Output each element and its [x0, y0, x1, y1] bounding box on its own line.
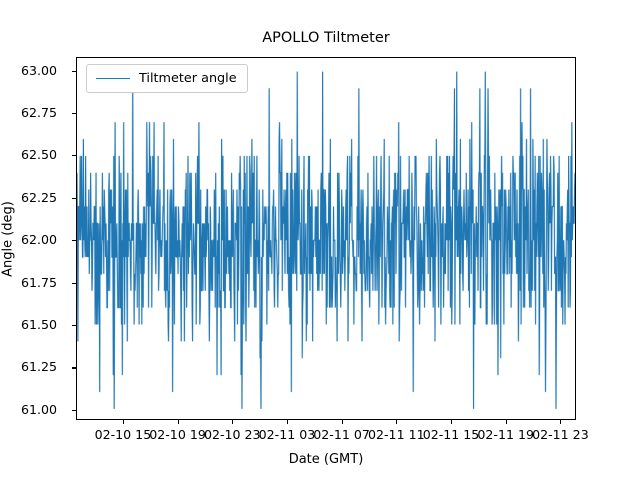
x-tick-mark — [451, 420, 452, 424]
y-tick-label: 61.25 — [0, 359, 57, 374]
y-tick-label: 62.00 — [0, 232, 57, 247]
x-tick-mark — [342, 420, 343, 424]
chart-title: APOLLO Tiltmeter — [76, 30, 576, 46]
x-tick-mark — [178, 420, 179, 424]
y-tick-label: 61.50 — [0, 317, 57, 332]
x-tick-mark — [232, 420, 233, 424]
x-tick-mark — [287, 420, 288, 424]
y-tick-label: 63.00 — [0, 63, 57, 78]
matplotlib-figure: APOLLO Tiltmeter Angle (deg) Date (GMT) … — [0, 0, 640, 480]
x-tick-mark — [396, 420, 397, 424]
chart-legend: Tiltmeter angle — [86, 64, 248, 93]
tiltmeter-angle-line-series — [77, 58, 575, 419]
x-axis-label: Date (GMT) — [76, 452, 576, 467]
y-tick-label: 62.50 — [0, 147, 57, 162]
y-tick-label: 62.75 — [0, 105, 57, 120]
y-tick-label: 61.75 — [0, 275, 57, 290]
legend-label-tiltmeter-angle: Tiltmeter angle — [139, 71, 237, 86]
x-tick-mark — [123, 420, 124, 424]
plot-area — [76, 57, 576, 420]
x-tick-mark — [560, 420, 561, 424]
legend-line-swatch-tiltmeter-angle — [96, 78, 130, 79]
x-tick-mark — [506, 420, 507, 424]
y-tick-label: 62.25 — [0, 190, 57, 205]
x-tick-label: 02-11 23 — [500, 427, 620, 442]
y-tick-label: 61.00 — [0, 402, 57, 417]
